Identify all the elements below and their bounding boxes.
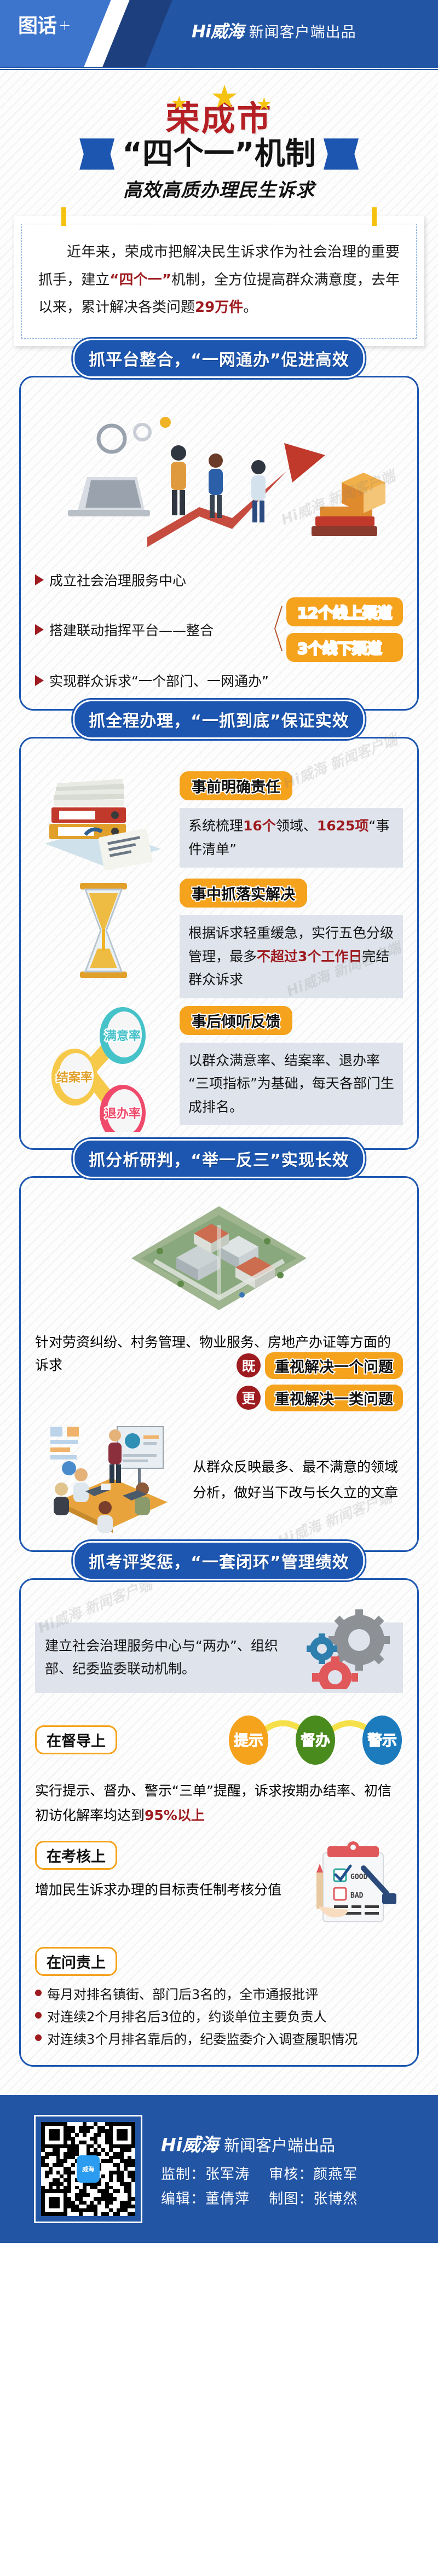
list-item: 对连续3个月排名靠后的，纪委监委介入调查履职情况: [35, 2028, 403, 2048]
app-logo[interactable]: 图话 +: [18, 16, 71, 36]
gears-illustration: [299, 1623, 403, 1693]
triangle-bullet-icon: [35, 624, 44, 635]
content-area: ★ ★ ★ 荣成市 “四个一”机制 高效高质办理民生诉求 近年来，荣成市把解决民…: [0, 70, 438, 2095]
paper-stack-icon: [35, 761, 172, 871]
hero-mechanism-row: “四个一”机制: [0, 138, 438, 170]
hero-title-block: ★ ★ ★ 荣成市 “四个一”机制 高效高质办理民生诉求: [0, 70, 438, 206]
triangle-bullet-icon: [35, 574, 44, 585]
tag-evaluation: 在考核上: [35, 1841, 117, 1870]
bullet-text: 成立社会治理服务中心: [49, 570, 186, 590]
svg-text:BAD: BAD: [350, 1892, 364, 1900]
section-platform-integration: 抓平台整合，“一网通办”促进高效: [19, 359, 419, 711]
accountability-list: 每月对排名镇街、部门后3名的，全市通报批评 对连续2个月排名后3位的，约谈单位主…: [35, 1984, 403, 2048]
step-pre-event: 事前明确责任 系统梳理16个领域、1625项“事件清单”: [35, 761, 403, 873]
infographic-page: 图话 + Hi威海 新闻客户端出品 ★ ★ ★ 荣成市 “四个一”机制 高效高质…: [0, 0, 438, 2243]
section-1-title: 抓平台整合，“一网通办”促进高效: [73, 339, 365, 378]
text-part: 领域、: [276, 818, 317, 834]
bullet-text: 实现群众诉求“一个部门、一网通办”: [49, 671, 269, 690]
section-1-illustration: [35, 400, 403, 559]
highlight-domain-count: 16个: [243, 818, 276, 834]
section-3-title: 抓分析研判，“举一反三”实现长效: [73, 1139, 365, 1178]
qr-center-logo: 威海: [77, 2155, 100, 2183]
teamwork-growth-illustration: [35, 400, 396, 559]
svg-text:警示: 警示: [367, 1732, 397, 1749]
intro-block: 近年来，荣成市把解决民生诉求作为社会治理的重要抓手，建立“四个一”机制，全方位提…: [0, 206, 438, 359]
emphasis-pair: 既 重视解决一个问题: [237, 1352, 403, 1379]
section-1-bullets: 成立社会治理服务中心 搭建联动指挥平台——整合: [35, 570, 403, 690]
section-4-body: Hi威海 新闻客户端 建立社会治理服务中心与“两办”、组织部、纪委监委联动机制。: [19, 1578, 419, 2067]
app-logo-text: 图话: [18, 16, 56, 36]
hero-mechanism-text: “四个一”机制: [122, 139, 316, 170]
bullet-item: 实现群众诉求“一个部门、一网通办”: [35, 671, 403, 690]
qr-logo-text: 威海: [82, 2165, 94, 2173]
svg-text:满意率: 满意率: [105, 1029, 141, 1043]
emphasis-issue-class: 重视解决一类问题: [265, 1385, 403, 1411]
gear-icon: [299, 1607, 403, 1689]
list-item: 对连续2个月排名后3位的，约谈单位主要负责人: [35, 2006, 403, 2025]
section-1-platform-row: 搭建联动指挥平台——整合 12个线上渠道 3个线下渠道: [35, 597, 403, 662]
text-part: 系统梳理: [188, 818, 243, 834]
step-post-event-text: 以群众满意率、结案率、退办率“三项指标”为基础，每天各部门生成排名。: [180, 1043, 403, 1126]
brand-subtitle: 新闻客户端出品: [249, 20, 356, 42]
credit-producer: 监制：张军涛: [161, 2166, 250, 2183]
highlight-rate: 95%以上: [145, 1807, 205, 1823]
step-during-event-content: 事中抓落实解决 根据诉求轻重缓急，实行五色分级管理，最多不超过3个工作日完结群众…: [180, 879, 403, 998]
svg-text:结案率: 结案率: [56, 1071, 93, 1085]
step-pre-event-text: 系统梳理16个领域、1625项“事件清单”: [180, 808, 403, 868]
list-item: 每月对排名镇街、部门后3名的，全市通报批评: [35, 1984, 403, 2003]
dot-bullet-icon: [35, 2034, 42, 2041]
channel-chip-group: 12个线上渠道 3个线下渠道: [286, 597, 403, 662]
tag-accountability: 在问责上: [35, 1947, 117, 1976]
intro-card-inner: 近年来，荣成市把解决民生诉求作为社会治理的重要抓手，建立“四个一”机制，全方位提…: [21, 224, 417, 339]
evaluation-text: 增加民生诉求办理的目标责任制考核分值: [35, 1877, 297, 1902]
section-4-lead-row: 建立社会治理服务中心与“两办”、组织部、纪委监委联动机制。: [35, 1623, 403, 1693]
section-4-title: 抓考评奖惩，“一套闭环”管理绩效: [73, 1541, 365, 1580]
isometric-city-icon: [126, 1201, 312, 1321]
bottom-spacer: [0, 2077, 438, 2095]
banner-brand: Hi威海 新闻客户端出品: [192, 18, 356, 42]
star-icon: ★: [256, 95, 272, 113]
footer-brand: Hi威海 新闻客户端出品: [161, 2130, 372, 2156]
section-2-body: 事前明确责任 系统梳理16个领域、1625项“事件清单”: [19, 737, 419, 1150]
section-analysis: 抓分析研判，“举一反三”实现长效: [19, 1160, 419, 1552]
bullet-item: 搭建联动指挥平台——整合: [35, 620, 274, 639]
three-indicators-diagram: 满意率 结案率 退办率: [35, 1006, 172, 1132]
section-3-illustration: [35, 1201, 403, 1321]
step-during-event-text: 根据诉求轻重缓急，实行五色分级管理，最多不超过3个工作日完结群众诉求: [180, 915, 403, 998]
section-1-body: 成立社会治理服务中心 搭建联动指挥平台——整合: [19, 376, 419, 711]
text-part: 实行提示、督办、警示“三单”提醒，诉求按期办结率、初信初访化解率均达到: [35, 1783, 391, 1823]
triangle-bullet-icon: [35, 675, 44, 686]
supervision-text: 实行提示、督办、警示“三单”提醒，诉求按期办结率、初信初访化解率均达到95%以上: [35, 1778, 403, 1828]
section-3-body: 针对劳资纠纷、村务管理、物业服务、房地产办证等方面的诉求 既 重视解决一个问题 …: [19, 1176, 419, 1552]
plus-icon: +: [59, 18, 71, 35]
section-4-lead-text: 建立社会治理服务中心与“两办”、组织部、纪委监委联动机制。: [35, 1623, 299, 1693]
list-item-text: 对连续3个月排名靠后的，纪委监委介入调查履职情况: [47, 2028, 358, 2048]
emphasis-single-issue: 重视解决一个问题: [265, 1352, 403, 1379]
badge-geng: 更: [237, 1386, 261, 1410]
step-during-event: 事中抓落实解决 根据诉求轻重缓急，实行五色分级管理，最多不超过3个工作日完结群众…: [35, 879, 403, 998]
intro-text-part3: 。: [243, 299, 257, 316]
footer-credit-line: 编辑：董倩萍 制图：张博然: [161, 2188, 372, 2208]
intro-highlight-mechanism: “四个一”: [109, 272, 171, 288]
step-post-event: 满意率 结案率 退办率 事后倾听反馈 以群众满意率、结案率、退办率“三项指标”为…: [35, 1006, 403, 1134]
qr-code[interactable]: 威海: [41, 2122, 135, 2216]
checklist-illustration: GOOD BAD: [304, 1841, 403, 1936]
qr-code-frame[interactable]: 威海: [34, 2115, 142, 2223]
footer-credits: Hi威海 新闻客户端出品 监制：张军涛 审核：颜燕军 编辑：董倩萍 制图：张博然: [161, 2130, 372, 2208]
block-supervision-header: 在督导上 提示 督办 警示: [35, 1707, 403, 1773]
section-3-closing-text: 从群众反映最多、最不满意的领域分析，做好当下改与长久立的文章: [193, 1455, 403, 1505]
credit-designer: 制图：张博然: [269, 2191, 358, 2207]
block-evaluation-content: 在考核上 增加民生诉求办理的目标责任制考核分值: [35, 1841, 297, 1902]
step-post-event-content: 事后倾听反馈 以群众满意率、结案率、退办率“三项指标”为基础，每天各部门生成排名…: [180, 1006, 403, 1126]
credit-editor: 编辑：董倩萍: [161, 2191, 250, 2207]
tick-left-icon: [61, 207, 66, 226]
connector-bracket-icon: [274, 598, 283, 659]
svg-text:提示: 提示: [234, 1732, 263, 1749]
footer-brand-sub: 新闻客户端出品: [224, 2133, 335, 2156]
top-banner: 图话 + Hi威海 新闻客户端出品: [0, 0, 438, 67]
footer-credit-line: 监制：张军涛 审核：颜燕军: [161, 2163, 372, 2183]
intro-paragraph: 近年来，荣成市把解决民生诉求作为社会治理的重要抓手，建立“四个一”机制，全方位提…: [38, 239, 400, 322]
step-pre-event-content: 事前明确责任 系统梳理16个领域、1625项“事件清单”: [180, 761, 403, 868]
indicator-nodes-illustration: 满意率 结案率 退办率: [35, 1006, 172, 1134]
three-stage-flow-diagram: 提示 督办 警示: [222, 1707, 403, 1773]
block-accountability: 在问责上 每月对排名镇街、部门后3名的，全市通报批评 对连续2个月排名后3位的，…: [35, 1947, 403, 2048]
step-tag-post-event: 事后倾听反馈: [180, 1006, 292, 1035]
intro-highlight-count: 29万件: [195, 299, 243, 316]
list-item-text: 每月对排名镇街、部门后3名的，全市通报批评: [47, 1984, 318, 2003]
emphasis-pair: 更 重视解决一类问题: [237, 1385, 403, 1411]
ribbon-right-icon: [324, 138, 359, 170]
block-evaluation: 在考核上 增加民生诉求办理的目标责任制考核分值 GOOD: [35, 1841, 403, 1936]
ribbon-left-icon: [79, 138, 114, 170]
highlight-item-count: 1625项: [317, 818, 369, 834]
emphasis-pair-group: 既 重视解决一个问题 更 重视解决一类问题: [35, 1352, 403, 1411]
svg-text:督办: 督办: [301, 1732, 330, 1749]
step-tag-during-event: 事中抓落实解决: [180, 879, 307, 908]
dot-bullet-icon: [35, 2012, 42, 2019]
section-3-closing-row: 从群众反映最多、最不满意的领域分析，做好当下改与长久立的文章: [35, 1424, 403, 1536]
highlight-working-days: 不超过3个工作日: [257, 949, 362, 964]
credit-reviewer: 审核：颜燕军: [269, 2166, 358, 2183]
bullet-text: 搭建联动指挥平台——整合: [49, 620, 214, 639]
dot-bullet-icon: [35, 1990, 42, 1996]
channel-chip-offline: 3个线下渠道: [286, 633, 403, 662]
star-decoration: ★ ★ ★: [0, 82, 438, 108]
svg-text:退办率: 退办率: [105, 1107, 141, 1121]
office-meeting-icon: [35, 1424, 183, 1534]
tick-right-icon: [372, 207, 377, 226]
list-item-text: 对连续2个月排名后3位的，约谈单位主要负责人: [47, 2006, 327, 2025]
clipboard-check-icon: GOOD BAD: [304, 1841, 403, 1934]
footer: 威海 Hi威海 新闻客户端出品 监制：张军涛 审核：颜燕军 编辑：董倩萍 制图：…: [0, 2095, 438, 2243]
bullet-item: 成立社会治理服务中心: [35, 570, 403, 590]
hero-subtitle: 高效高质办理民生诉求: [0, 175, 438, 202]
star-icon: ★: [210, 81, 239, 113]
brand-hi-weihai: Hi威海: [192, 18, 244, 42]
meeting-illustration: [35, 1424, 183, 1536]
svg-text:GOOD: GOOD: [350, 1873, 367, 1881]
badge-ji: 既: [237, 1353, 261, 1377]
tag-supervision: 在督导上: [35, 1725, 117, 1754]
section-2-title: 抓全程办理，“一抓到底”保证实效: [73, 700, 365, 739]
section-assessment: 抓考评奖惩，“一套闭环”管理绩效 Hi威海 新闻客户端 建立社会治理服务中心与“…: [19, 1562, 419, 2067]
intro-card: 近年来，荣成市把解决民生诉求作为社会治理的重要抓手，建立“四个一”机制，全方位提…: [14, 216, 424, 346]
supervision-flow: 提示 督办 警示: [126, 1707, 403, 1773]
section-full-process: 抓全程办理，“一抓到底”保证实效: [19, 720, 419, 1150]
footer-brand-hi: Hi威海: [161, 2130, 218, 2156]
channel-chip-online: 12个线上渠道: [286, 597, 403, 626]
documents-illustration: [35, 761, 172, 873]
hourglass-illustration: [35, 879, 172, 982]
step-tag-pre-event: 事前明确责任: [180, 771, 292, 800]
hourglass-icon: [68, 879, 139, 982]
star-icon: ★: [171, 94, 187, 113]
